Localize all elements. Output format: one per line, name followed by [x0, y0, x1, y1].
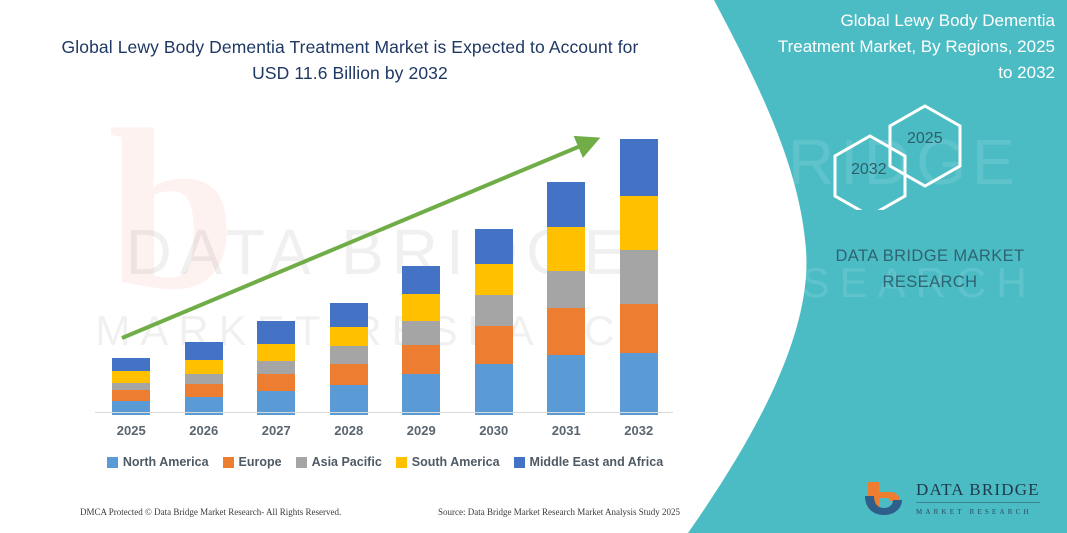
legend-label: Asia Pacific	[312, 455, 382, 469]
bar-segment[interactable]	[330, 385, 368, 415]
legend-swatch	[296, 457, 307, 468]
legend-swatch	[514, 457, 525, 468]
bar-segment[interactable]	[475, 229, 513, 263]
bar-segment[interactable]	[112, 390, 150, 400]
x-axis-tick-label: 2028	[314, 423, 384, 438]
bar-segment[interactable]	[402, 345, 440, 375]
chart-legend: North AmericaEuropeAsia PacificSouth Ame…	[95, 455, 675, 469]
bar-segment[interactable]	[330, 327, 368, 347]
legend-label: North America	[123, 455, 209, 469]
legend-swatch	[396, 457, 407, 468]
bar-segment[interactable]	[475, 295, 513, 325]
bar-segment[interactable]	[185, 342, 223, 360]
legend-item[interactable]: South America	[396, 455, 500, 469]
x-axis-line	[95, 412, 673, 413]
bar-segment[interactable]	[547, 355, 585, 415]
hexagon-2032-label: 2032	[851, 161, 887, 179]
bar-segment[interactable]	[330, 364, 368, 385]
data-bridge-logo: DATA BRIDGE MARKET RESEARCH	[862, 472, 1062, 524]
bar-segment[interactable]	[620, 139, 658, 196]
legend-item[interactable]: Europe	[223, 455, 282, 469]
bar-segment[interactable]	[475, 264, 513, 295]
bar-segment[interactable]	[547, 182, 585, 227]
bar-group[interactable]	[547, 182, 585, 415]
bar-segment[interactable]	[620, 304, 658, 353]
logo-mark-icon	[862, 478, 908, 518]
legend-label: South America	[412, 455, 500, 469]
bar-segment[interactable]	[547, 271, 585, 308]
x-axis-tick-label: 2025	[96, 423, 166, 438]
x-axis-tick-label: 2027	[241, 423, 311, 438]
x-axis-tick-label: 2029	[386, 423, 456, 438]
bar-segment[interactable]	[185, 360, 223, 374]
page-title: Global Lewy Body Dementia Treatment Mark…	[60, 34, 640, 86]
legend-item[interactable]: Asia Pacific	[296, 455, 382, 469]
footer-copyright: DMCA Protected © Data Bridge Market Rese…	[80, 507, 341, 517]
bar-segment[interactable]	[112, 383, 150, 391]
bar-group[interactable]	[475, 229, 513, 415]
x-axis-tick-label: 2026	[169, 423, 239, 438]
hexagon-badges: 2025 2032	[800, 100, 1030, 210]
bar-segment[interactable]	[620, 196, 658, 250]
legend-label: Middle East and Africa	[530, 455, 664, 469]
bar-segment[interactable]	[185, 384, 223, 397]
x-axis-labels: 20252026202720282029203020312032	[95, 423, 675, 445]
panel-title: Global Lewy Body Dementia Treatment Mark…	[770, 8, 1055, 86]
bar-segment[interactable]	[547, 227, 585, 272]
bar-segment[interactable]	[402, 294, 440, 321]
x-axis-tick-label: 2030	[459, 423, 529, 438]
logo-main-text: DATA BRIDGE	[916, 480, 1040, 500]
legend-label: Europe	[239, 455, 282, 469]
bar-segment[interactable]	[402, 374, 440, 415]
bar-segment[interactable]	[257, 344, 295, 361]
legend-swatch	[107, 457, 118, 468]
logo-sub-text: MARKET RESEARCH	[916, 508, 1040, 516]
bar-group[interactable]	[330, 303, 368, 415]
legend-item[interactable]: North America	[107, 455, 209, 469]
x-axis-tick-label: 2031	[531, 423, 601, 438]
footer: DMCA Protected © Data Bridge Market Rese…	[80, 507, 680, 517]
bar-segment[interactable]	[330, 346, 368, 363]
logo-divider	[916, 502, 1040, 503]
legend-swatch	[223, 457, 234, 468]
bar-segment[interactable]	[620, 353, 658, 415]
footer-source: Source: Data Bridge Market Research Mark…	[438, 507, 680, 517]
bar-group[interactable]	[257, 321, 295, 415]
bar-group[interactable]	[402, 266, 440, 415]
brand-name: DATA BRIDGE MARKET RESEARCH	[790, 243, 1067, 295]
bar-group[interactable]	[112, 358, 150, 415]
bar-segment[interactable]	[475, 364, 513, 415]
bar-segment[interactable]	[257, 361, 295, 374]
bar-segment[interactable]	[112, 358, 150, 371]
bar-segment[interactable]	[402, 266, 440, 295]
bar-segment[interactable]	[547, 308, 585, 355]
bar-segment[interactable]	[185, 374, 223, 384]
bar-segment[interactable]	[330, 303, 368, 327]
hexagon-2025-label: 2025	[907, 130, 943, 148]
left-content-area: b DATA BRIDGE MARKET RESEARCH Global Lew…	[0, 0, 700, 533]
bar-segment[interactable]	[257, 321, 295, 344]
bar-segment[interactable]	[620, 250, 658, 303]
bar-group[interactable]	[620, 139, 658, 415]
legend-item[interactable]: Middle East and Africa	[514, 455, 664, 469]
bar-segment[interactable]	[112, 371, 150, 382]
stacked-bar-chart	[95, 120, 675, 415]
bar-segment[interactable]	[402, 321, 440, 345]
logo-text: DATA BRIDGE MARKET RESEARCH	[916, 480, 1040, 516]
x-axis-tick-label: 2032	[604, 423, 674, 438]
bar-group[interactable]	[185, 342, 223, 415]
bar-segment[interactable]	[257, 374, 295, 391]
bar-segment[interactable]	[475, 326, 513, 364]
infographic-root: b DATA BRIDGE MARKET RESEARCH Global Lew…	[0, 0, 1067, 533]
